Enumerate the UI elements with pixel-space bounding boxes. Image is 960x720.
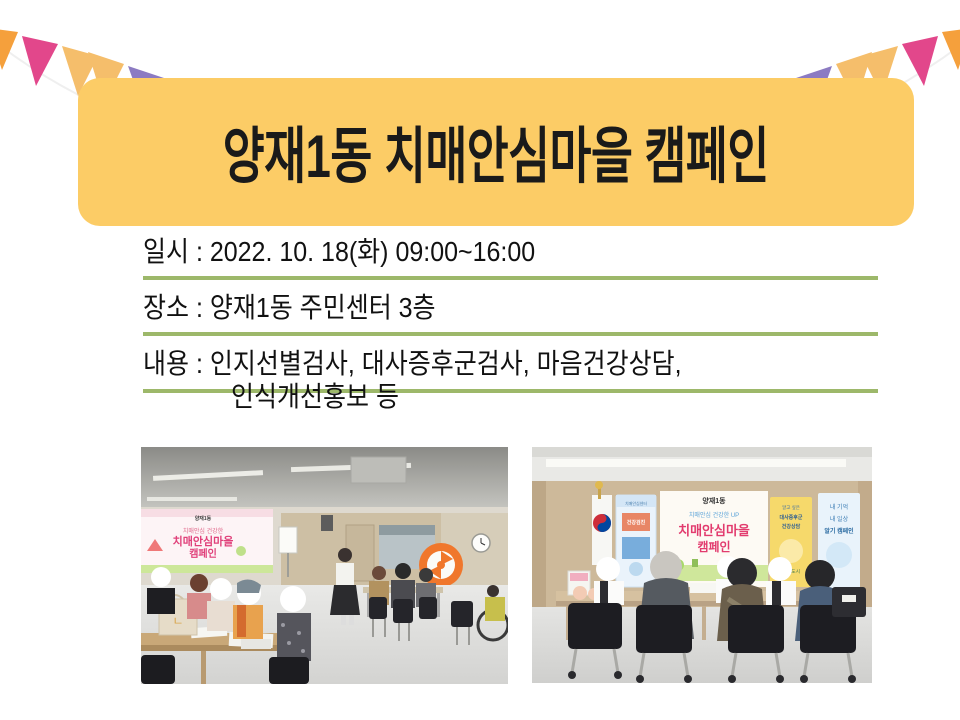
- svg-text:치매안심센터: 치매안심센터: [625, 500, 647, 506]
- svg-text:알고 싶은: 알고 싶은: [782, 504, 800, 510]
- photo-community-center-hall: 양재1동 치매안심 건강한 치매안심마을 캠페인: [141, 447, 508, 684]
- svg-text:알기 캠페인: 알기 캠페인: [824, 527, 854, 535]
- photo-campaign-booth: 치매안심센터 건강검진 양재1동 치매안심 건강한 UP 치매안심마을 캠페인 …: [532, 447, 872, 683]
- detail-row-location: 장소 : 양재1동 주민센터 3층: [143, 292, 878, 336]
- svg-text:양재1동: 양재1동: [195, 515, 212, 522]
- svg-text:치매안심마을: 치매안심마을: [678, 523, 750, 538]
- detail-datetime-text: 일시 : 2022. 10. 18(화) 09:00~16:00: [143, 234, 878, 271]
- svg-text:치매안심마을: 치매안심마을: [173, 534, 234, 548]
- svg-text:ㄴ: ㄴ: [172, 614, 183, 628]
- svg-text:대사증후군: 대사증후군: [779, 514, 802, 521]
- detail-content-text-line1: 내용 : 인지선별검사, 대사증후군검사, 마음건강상담,: [143, 346, 878, 383]
- svg-text:캠페인: 캠페인: [697, 539, 730, 554]
- title-banner-box: 양재1동 치매안심마을 캠페인: [78, 78, 914, 226]
- detail-row-datetime: 일시 : 2022. 10. 18(화) 09:00~16:00: [143, 236, 878, 280]
- photo-gallery: 양재1동 치매안심 건강한 치매안심마을 캠페인: [0, 447, 960, 687]
- svg-text:양재1동: 양재1동: [702, 496, 726, 505]
- detail-location-text: 장소 : 양재1동 주민센터 3층: [143, 290, 878, 327]
- svg-text:치매안심 건강한: 치매안심 건강한: [183, 527, 224, 535]
- svg-text:캠페인: 캠페인: [189, 547, 217, 560]
- svg-text:치매안심 건강한 UP: 치매안심 건강한 UP: [689, 511, 739, 519]
- detail-content-text-line2: 인식개선홍보 등: [143, 379, 878, 416]
- svg-text:내 기억: 내 기억: [830, 503, 848, 511]
- campaign-poster: 양재1동 치매안심마을 캠페인 일시 : 2022. 10. 18(화) 09:…: [0, 0, 960, 720]
- svg-text:내 일상: 내 일상: [830, 515, 849, 523]
- detail-row-content: 내용 : 인지선별검사, 대사증후군검사, 마음건강상담, 인식개선홍보 등: [143, 348, 878, 414]
- svg-text:건강검진: 건강검진: [627, 519, 646, 526]
- event-details: 일시 : 2022. 10. 18(화) 09:00~16:00 장소 : 양재…: [143, 236, 878, 414]
- svg-text:건강상담: 건강상담: [782, 523, 801, 530]
- page-title: 양재1동 치매안심마을 캠페인: [223, 108, 769, 195]
